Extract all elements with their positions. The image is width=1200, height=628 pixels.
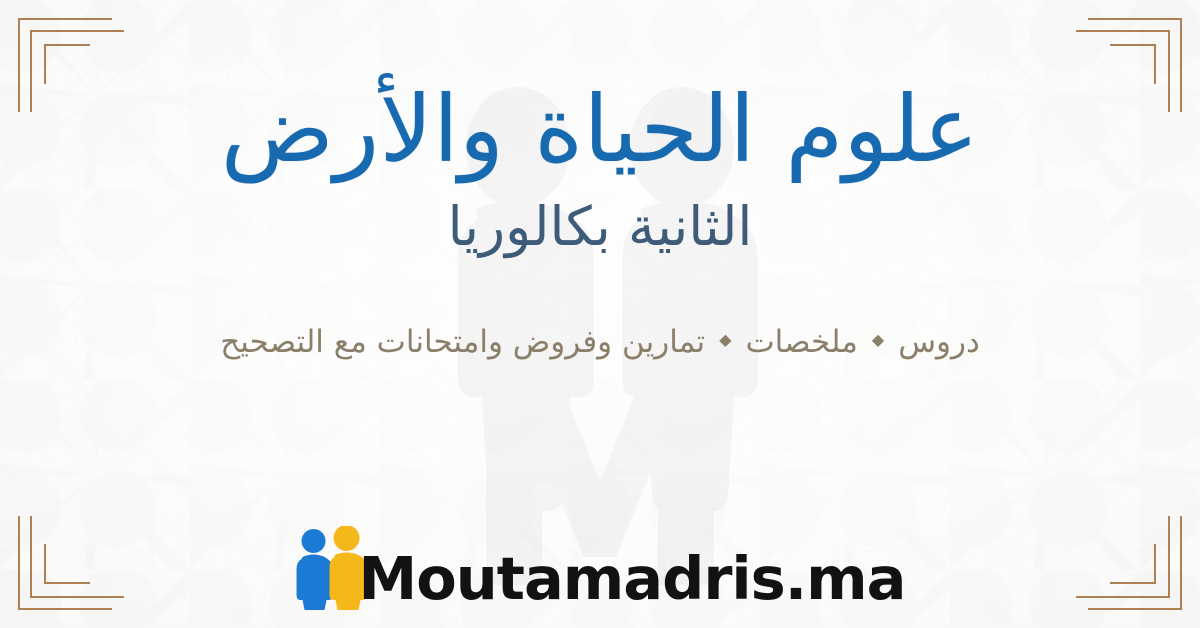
brand-name[interactable]: Moutamadris.ma <box>359 549 906 608</box>
tagline-part-1: دروس <box>898 322 980 362</box>
tagline-part-2: ملخصات <box>746 322 858 362</box>
tagline-part-3: تمارين وفروض وامتحانات مع التصحيح <box>220 322 705 362</box>
page-title: علوم الحياة والأرض <box>221 78 979 181</box>
page-subtitle: الثانية بكالوريا <box>448 195 753 260</box>
poster-canvas: علوم الحياة والأرض الثانية بكالوريا دروس… <box>0 0 1200 628</box>
diamond-separator-icon: ◆ <box>719 330 731 351</box>
diamond-separator-icon: ◆ <box>872 330 884 351</box>
brand-logo: Moutamadris.ma <box>295 526 906 610</box>
tagline: دروس ◆ ملخصات ◆ تمارين وفروض وامتحانات م… <box>220 322 980 362</box>
